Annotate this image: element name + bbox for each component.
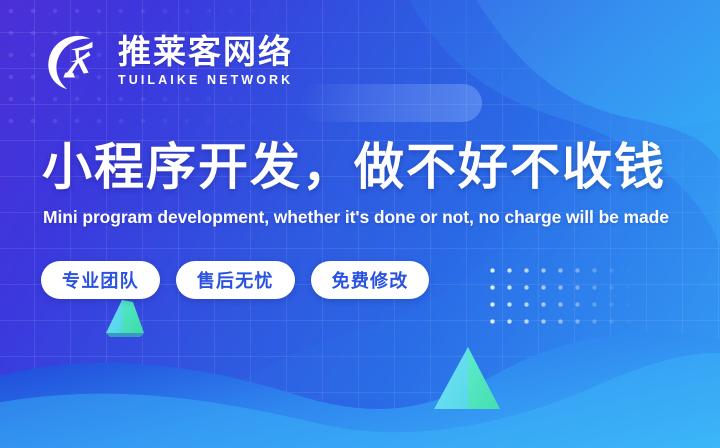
feature-pill-group: 专业团队 售后无忧 免费修改 [41, 261, 429, 299]
feature-pill-free-revisions[interactable]: 免费修改 [311, 261, 430, 299]
brand-name-en: TUILAIKE NETWORK [118, 72, 293, 88]
page-title: 小程序开发，做不好不收钱 [42, 139, 666, 195]
promo-banner: 推莱客网络 TUILAIKE NETWORK 小程序开发，做不好不收钱 Mini… [0, 0, 720, 448]
brand-name-cn: 推莱客网络 [118, 34, 293, 70]
feature-pill-after-sales[interactable]: 售后无忧 [176, 261, 295, 299]
page-subtitle: Mini program development, whether it's d… [43, 206, 669, 229]
crescent-swoosh-logo-icon [44, 30, 106, 92]
brand-logo: 推莱客网络 TUILAIKE NETWORK [44, 30, 293, 92]
feature-pill-professional-team[interactable]: 专业团队 [41, 261, 160, 299]
banner-content: 推莱客网络 TUILAIKE NETWORK 小程序开发，做不好不收钱 Mini… [0, 0, 720, 448]
